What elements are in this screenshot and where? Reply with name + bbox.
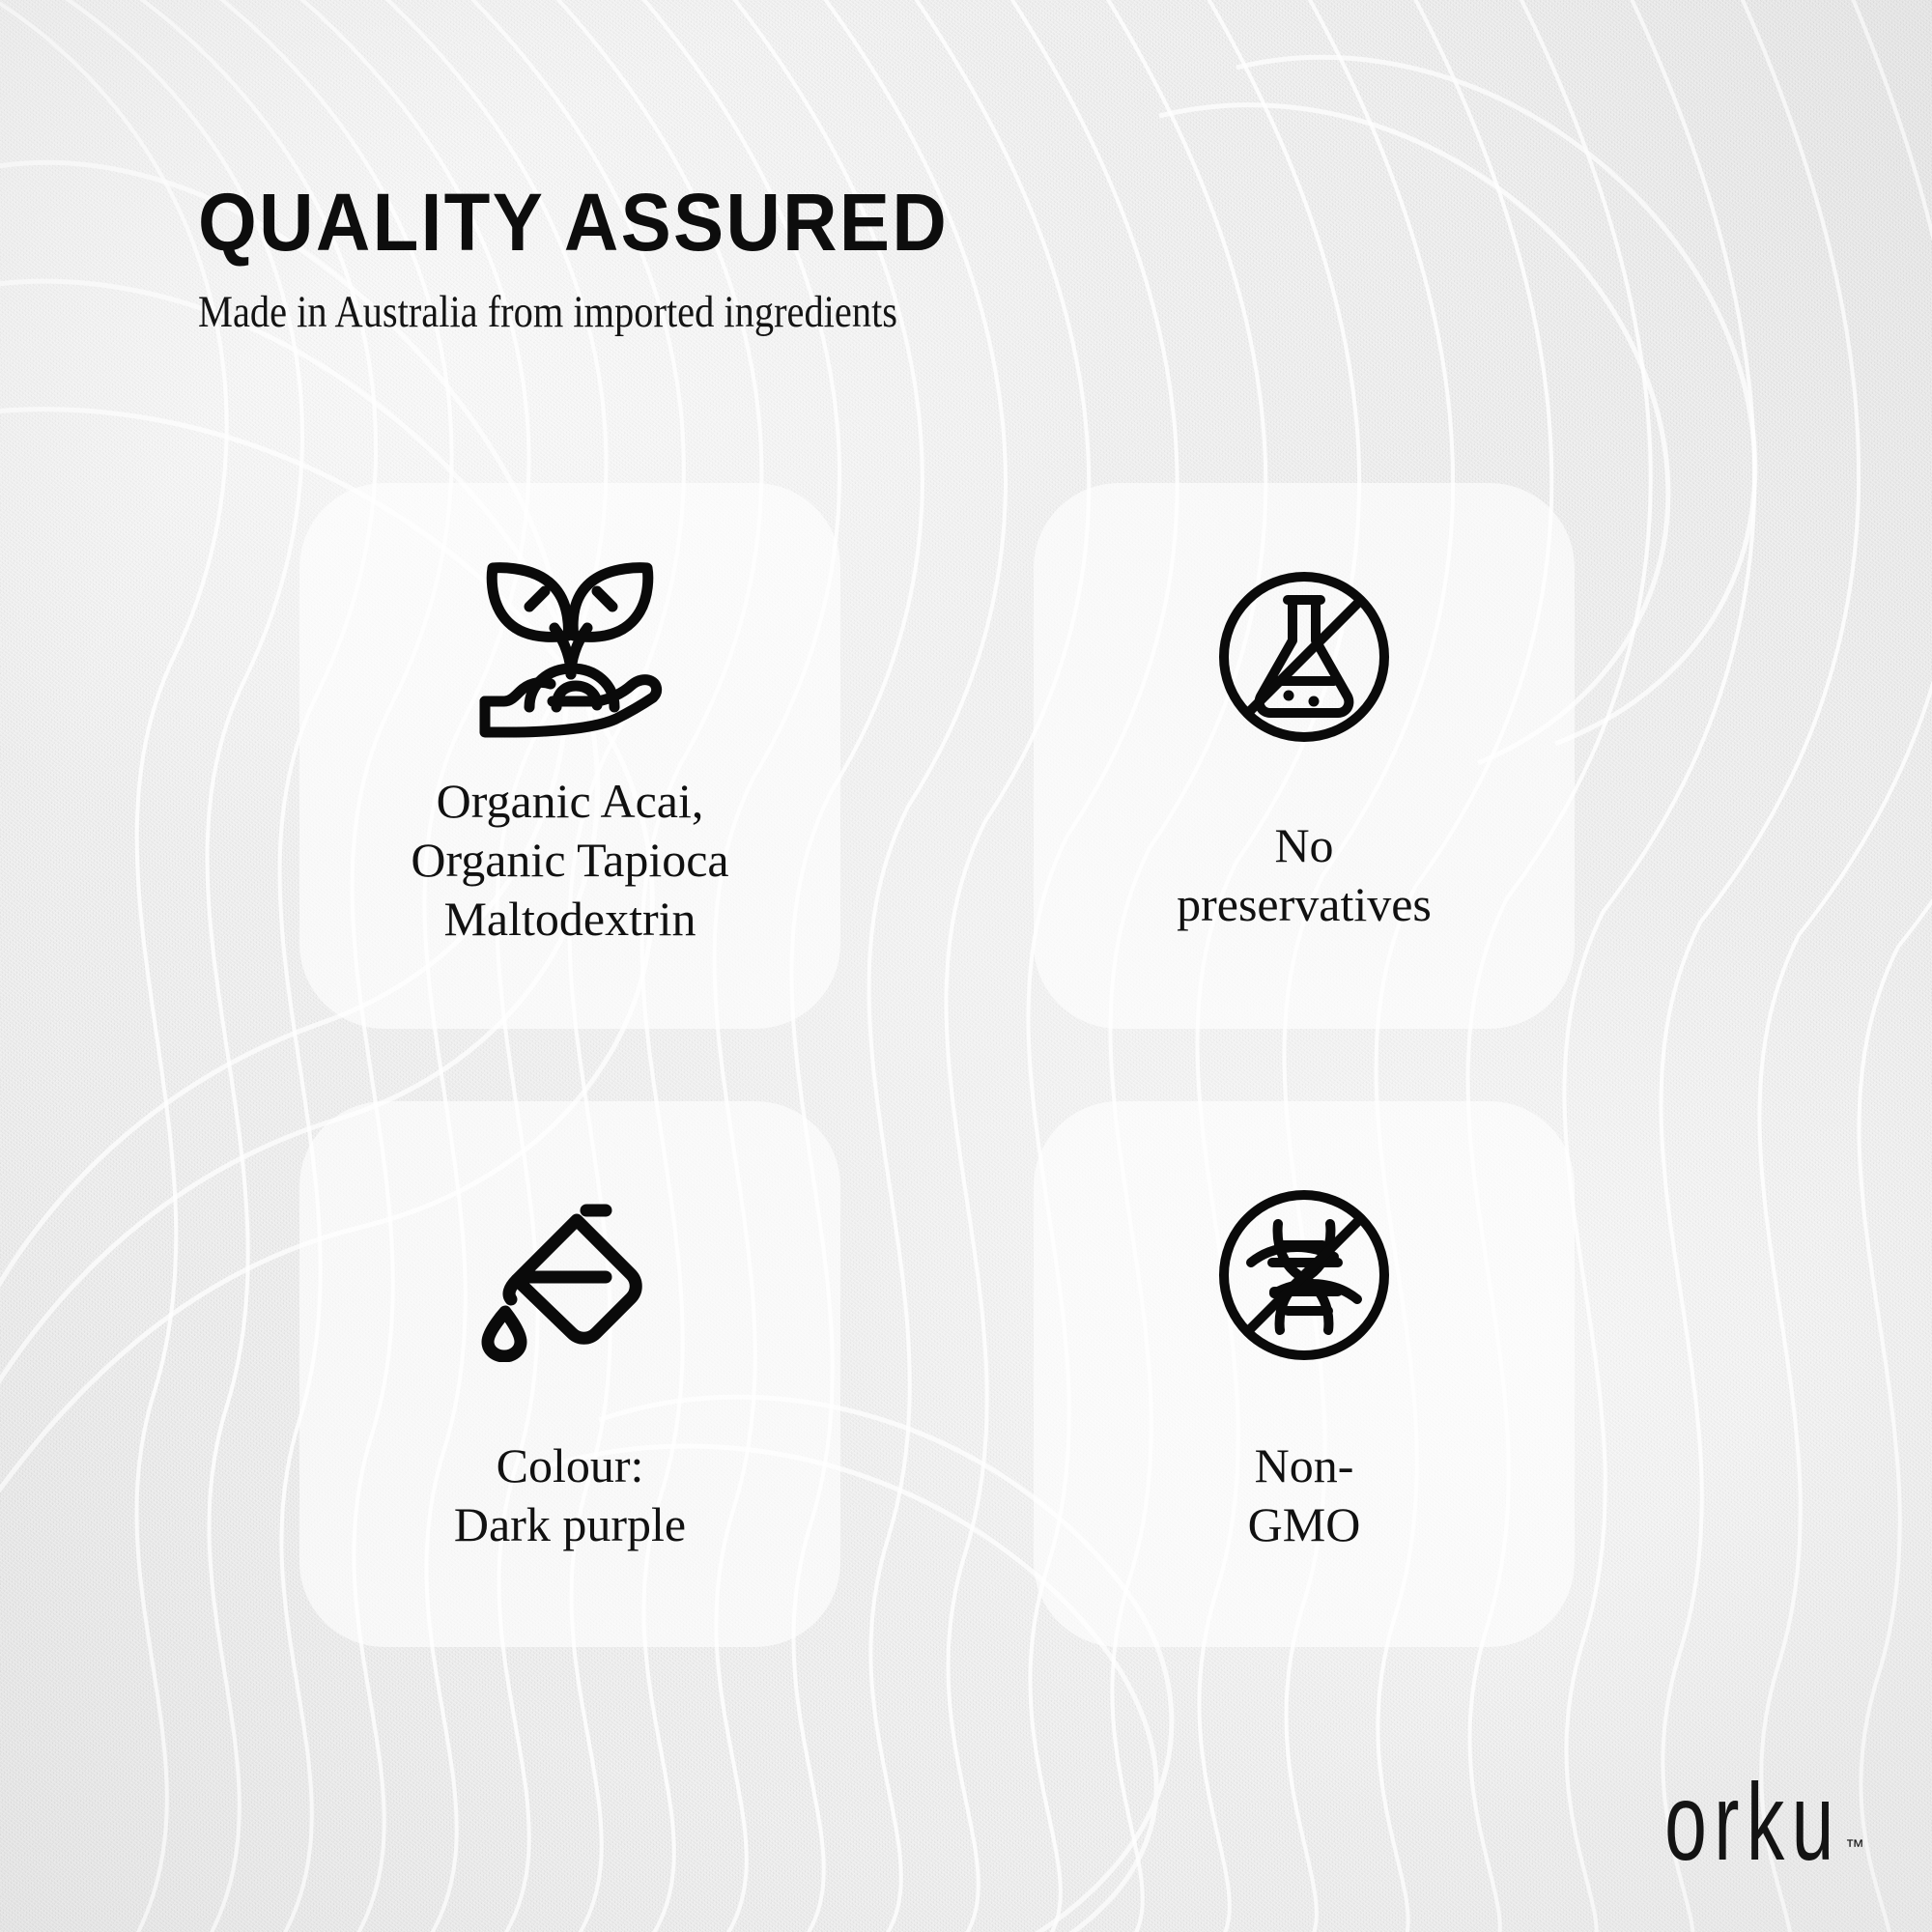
page-title: QUALITY ASSURED	[198, 182, 1456, 263]
feature-card-non-gmo: Non- GMO	[1034, 1101, 1575, 1647]
brand-logo: orku ™	[1626, 1789, 1864, 1872]
plant-in-hand-icon	[464, 539, 676, 747]
feature-card-label: Colour: Dark purple	[437, 1436, 703, 1554]
feature-card-colour: Colour: Dark purple	[299, 1101, 840, 1647]
brand-name: orku	[1664, 1774, 1841, 1872]
feature-card-label: Non- GMO	[1231, 1436, 1378, 1554]
header: QUALITY ASSURED Made in Australia from i…	[198, 182, 1550, 335]
paint-bucket-icon	[464, 1171, 676, 1378]
no-preservatives-flask-icon	[1198, 553, 1410, 760]
non-gmo-dna-icon	[1198, 1171, 1410, 1378]
feature-card-no-preservatives: No preservatives	[1034, 483, 1575, 1029]
feature-card-grid: Organic Acai, Organic Tapioca Maltodextr…	[299, 483, 1652, 1647]
page-subtitle: Made in Australia from imported ingredie…	[198, 290, 1361, 335]
trademark-symbol: ™	[1845, 1836, 1864, 1859]
feature-card-label: Organic Acai, Organic Tapioca Maltodextr…	[393, 772, 746, 949]
feature-card-organic-ingredients: Organic Acai, Organic Tapioca Maltodextr…	[299, 483, 840, 1029]
quality-assured-infographic: QUALITY ASSURED Made in Australia from i…	[0, 0, 1932, 1932]
feature-card-label: No preservatives	[1159, 816, 1449, 934]
